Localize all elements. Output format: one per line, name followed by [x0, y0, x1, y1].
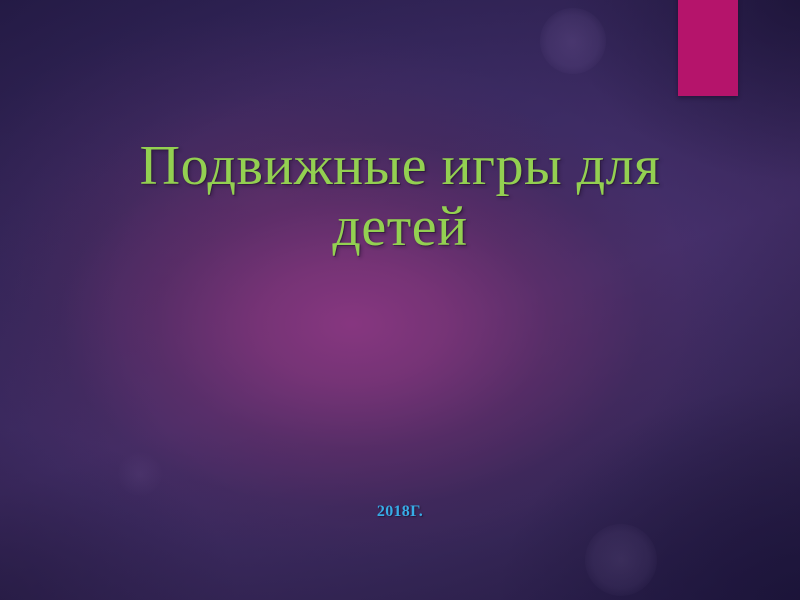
bokeh-circle-icon-left [118, 452, 162, 496]
slide-title-line-1: Подвижные игры для [140, 135, 661, 197]
slide-title: Подвижные игры для детей [40, 136, 760, 259]
slide-title-line-2: детей [40, 197, 760, 259]
presentation-slide: Подвижные игры для детей 2018Г. [0, 0, 800, 600]
slide-subtitle-year: 2018Г. [0, 503, 800, 521]
accent-rectangle [678, 0, 738, 96]
bokeh-circle-icon-top [540, 8, 606, 74]
bokeh-circle-icon-bottom [585, 524, 657, 596]
